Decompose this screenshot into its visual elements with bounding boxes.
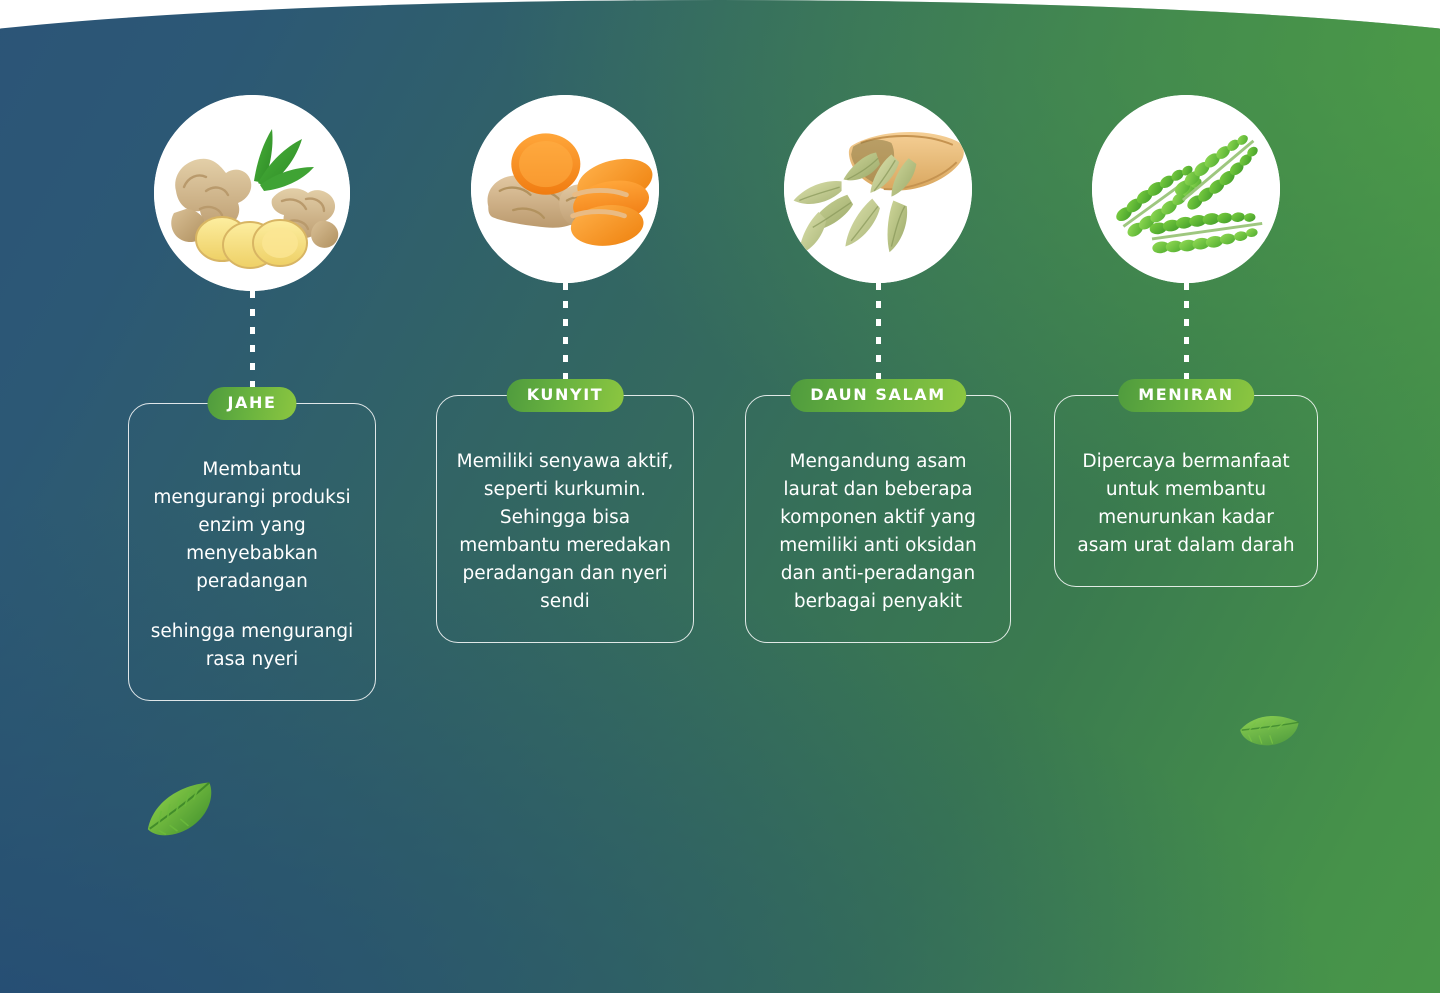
meniran-photo bbox=[1092, 95, 1280, 283]
bay-leaf-photo bbox=[784, 95, 972, 283]
herb-column-kunyit: KUNYIT Memiliki senyawa aktif, seperti k… bbox=[436, 95, 694, 643]
floating-leaf-left bbox=[138, 782, 234, 838]
infographic-canvas: JAHE Membantu mengurangi produksi enzim … bbox=[0, 0, 1440, 993]
herb-column-daun-salam: DAUN SALAM Mengandung asam laurat dan be… bbox=[745, 95, 1011, 643]
badge-meniran: MENIRAN bbox=[1118, 379, 1254, 412]
ginger-photo bbox=[154, 95, 350, 291]
card-paragraph: Mengandung asam laurat dan beberapa komp… bbox=[764, 448, 992, 616]
card-paragraph: Dipercaya bermanfaat untuk membantu menu… bbox=[1073, 448, 1299, 560]
turmeric-photo bbox=[471, 95, 659, 283]
info-card-meniran: MENIRAN Dipercaya bermanfaat untuk memba… bbox=[1054, 395, 1318, 587]
info-card-jahe: JAHE Membantu mengurangi produksi enzim … bbox=[128, 403, 376, 701]
badge-daun-salam: DAUN SALAM bbox=[790, 379, 966, 412]
card-paragraph: Memiliki senyawa aktif, seperti kurkumin… bbox=[455, 448, 675, 616]
herb-column-meniran: MENIRAN Dipercaya bermanfaat untuk memba… bbox=[1054, 95, 1318, 587]
card-paragraph: sehingga mengurangi rasa nyeri bbox=[147, 618, 357, 674]
info-card-daun-salam: DAUN SALAM Mengandung asam laurat dan be… bbox=[745, 395, 1011, 643]
badge-kunyit: KUNYIT bbox=[507, 379, 624, 412]
herb-columns: JAHE Membantu mengurangi produksi enzim … bbox=[0, 0, 1440, 993]
floating-leaf-right bbox=[1236, 708, 1308, 756]
info-card-kunyit: KUNYIT Memiliki senyawa aktif, seperti k… bbox=[436, 395, 694, 643]
badge-jahe: JAHE bbox=[207, 387, 296, 420]
card-paragraph: Membantu mengurangi produksi enzim yang … bbox=[147, 456, 357, 596]
herb-column-jahe: JAHE Membantu mengurangi produksi enzim … bbox=[128, 95, 376, 701]
